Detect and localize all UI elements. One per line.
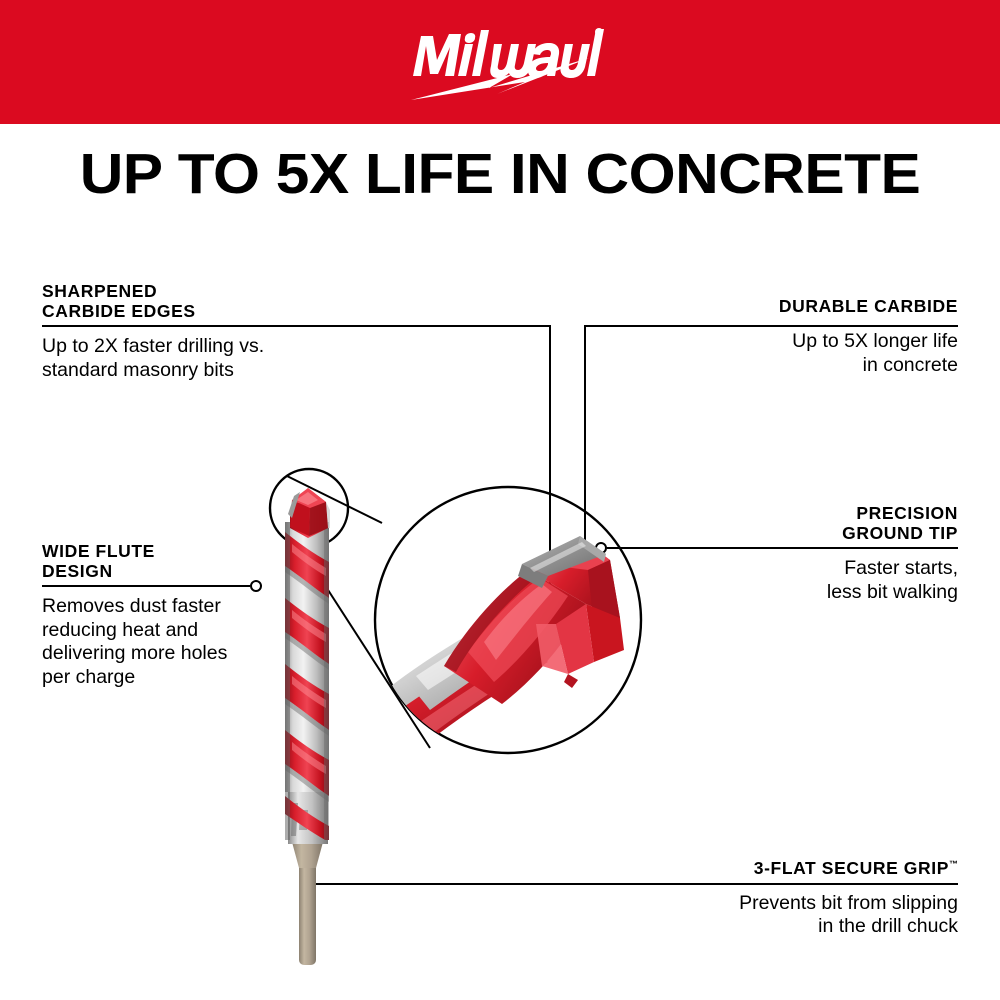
callout-body-line2: less bit walking bbox=[608, 581, 958, 605]
callout-precision-ground-tip: PRECISION GROUND TIP Faster starts, less… bbox=[608, 503, 958, 604]
trademark-symbol: ™ bbox=[949, 859, 958, 869]
callout-durable-carbide: DURABLE CARBIDE Up to 5X longer life in … bbox=[608, 296, 958, 377]
callout-body-line2: standard masonry bits bbox=[42, 359, 382, 383]
callout-title-line2: GROUND TIP bbox=[608, 523, 958, 543]
callout-body-line2: reducing heat and bbox=[42, 619, 342, 643]
callout-title-line1: 3-FLAT SECURE GRIP™ bbox=[578, 854, 958, 878]
callout-title-line1: SHARPENED bbox=[42, 281, 382, 301]
callout-body-line1: Prevents bit from slipping bbox=[578, 892, 958, 916]
milwaukee-lightning-logo bbox=[393, 16, 607, 108]
callout-title-line1: DURABLE CARBIDE bbox=[608, 296, 958, 316]
callout-body-line2: in the drill chuck bbox=[578, 915, 958, 939]
callout-body-line1: Up to 5X longer life bbox=[608, 330, 958, 354]
callout-body-line1: Removes dust faster bbox=[42, 595, 342, 619]
callout-title-text: 3-FLAT SECURE GRIP bbox=[754, 858, 949, 878]
callout-body-line1: Up to 2X faster drilling vs. bbox=[42, 335, 382, 359]
callout-three-flat-secure-grip: 3-FLAT SECURE GRIP™ Prevents bit from sl… bbox=[578, 854, 958, 939]
brand-header-band bbox=[0, 0, 1000, 124]
callout-title-line2: DESIGN bbox=[42, 561, 342, 581]
callout-title-line2: CARBIDE EDGES bbox=[42, 301, 382, 321]
callout-body-line4: per charge bbox=[42, 666, 342, 690]
callout-wide-flute-design: WIDE FLUTE DESIGN Removes dust faster re… bbox=[42, 541, 342, 689]
callout-title-line1: PRECISION bbox=[608, 503, 958, 523]
callout-body-line1: Faster starts, bbox=[608, 557, 958, 581]
callout-body-line3: delivering more holes bbox=[42, 642, 342, 666]
callout-body-line2: in concrete bbox=[608, 354, 958, 378]
magnified-carbide-tip-illustration bbox=[372, 484, 647, 759]
page-headline: UP TO 5X LIFE IN CONCRETE bbox=[0, 141, 1000, 207]
callout-title-line1: WIDE FLUTE bbox=[42, 541, 342, 561]
bit-shank bbox=[299, 860, 316, 965]
callout-sharpened-carbide-edges: SHARPENED CARBIDE EDGES Up to 2X faster … bbox=[42, 281, 382, 382]
infographic-page: UP TO 5X LIFE IN CONCRETE bbox=[0, 0, 1000, 1000]
